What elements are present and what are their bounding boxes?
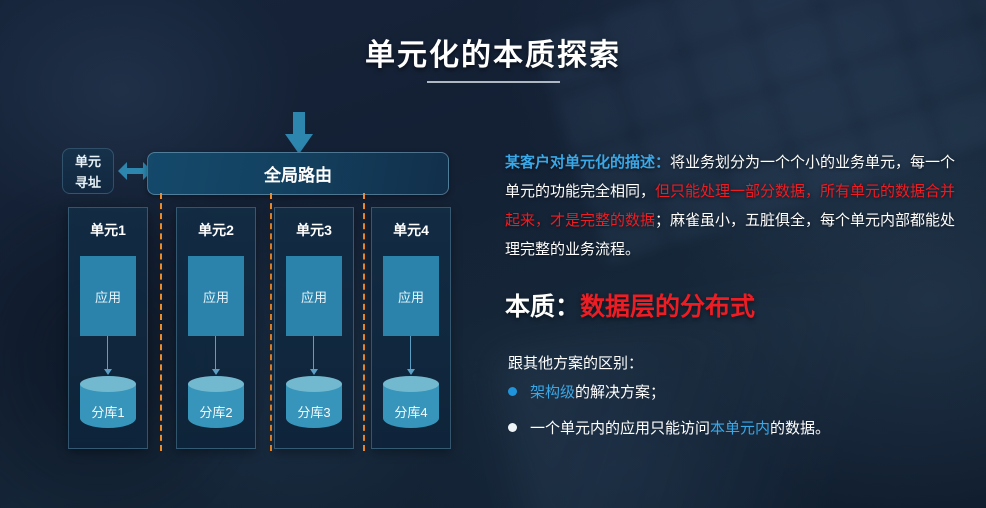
list-item: 架构级的解决方案； xyxy=(508,381,968,402)
unit-database-label: 分库1 xyxy=(80,402,136,421)
bullet-text: 的解决方案； xyxy=(575,384,665,401)
global-router-bar: 全局路由 xyxy=(147,152,449,195)
bullet-highlight: 本单元内 xyxy=(710,420,770,437)
bullet-text: 的数据。 xyxy=(770,420,830,437)
app-db-connector-arrow-icon xyxy=(104,369,112,375)
unit-app-box: 应用 xyxy=(80,256,136,336)
unit-addressing-box: 单元 寻址 xyxy=(62,148,114,194)
unit-title: 单元4 xyxy=(372,220,450,240)
bullet-highlight: 架构级 xyxy=(530,384,575,401)
bullet-dot-icon xyxy=(508,423,517,432)
unit-database-cylinder: 分库4 xyxy=(383,376,439,436)
unit-app-box: 应用 xyxy=(383,256,439,336)
app-db-connector-arrow-icon xyxy=(310,369,318,375)
list-item: 一个单元内的应用只能访问本单元内的数据。 xyxy=(508,417,968,438)
unit-database-cylinder: 分库3 xyxy=(286,376,342,436)
unit-card: 单元3 应用 分库3 xyxy=(274,207,354,449)
unit-app-box: 应用 xyxy=(188,256,244,336)
app-db-connector-arrow-icon xyxy=(212,369,220,375)
app-db-connector xyxy=(313,336,314,372)
unit-card: 单元1 应用 分库1 xyxy=(68,207,148,449)
unit-app-box: 应用 xyxy=(286,256,342,336)
bullet-prefix: 一个单元内的应用只能访问 xyxy=(530,420,710,437)
unit-database-label: 分库4 xyxy=(383,402,439,421)
unit-divider-3 xyxy=(363,193,365,451)
app-db-connector xyxy=(107,336,108,372)
essence-label: 本质： xyxy=(505,293,580,321)
unit-addressing-line2: 寻址 xyxy=(63,172,113,193)
difference-label: 跟其他方案的区别： xyxy=(508,352,643,373)
unit-divider-1 xyxy=(160,193,162,451)
unit-database-label: 分库2 xyxy=(188,402,244,421)
description-paragraph: 某客户对单元化的描述：将业务划分为一个个小的业务单元，每一个单元的功能完全相同，… xyxy=(505,148,965,264)
unit-title: 单元2 xyxy=(177,220,255,240)
bullet-dot-icon xyxy=(508,387,517,396)
unit-card: 单元2 应用 分库2 xyxy=(176,207,256,449)
unit-title: 单元3 xyxy=(275,220,353,240)
essence-heading: 本质：数据层的分布式 xyxy=(505,287,755,323)
slide-root: 单元化的本质探索 单元 寻址 全局路由 单元1 应用 xyxy=(0,0,986,508)
unit-divider-2 xyxy=(270,193,272,451)
unit-addressing-line1: 单元 xyxy=(63,151,113,172)
global-router-label: 全局路由 xyxy=(264,161,332,186)
app-db-connector-arrow-icon xyxy=(407,369,415,375)
unit-database-cylinder: 分库2 xyxy=(188,376,244,436)
description-lead: 某客户对单元化的描述： xyxy=(505,154,670,171)
essence-value: 数据层的分布式 xyxy=(580,293,755,321)
unit-database-label: 分库3 xyxy=(286,402,342,421)
explanation-column: 某客户对单元化的描述：将业务划分为一个个小的业务单元，每一个单元的功能完全相同，… xyxy=(505,0,975,508)
arrow-down-icon xyxy=(285,112,313,154)
app-db-connector xyxy=(410,336,411,372)
unit-title: 单元1 xyxy=(69,220,147,240)
app-db-connector xyxy=(215,336,216,372)
unitization-diagram: 单元 寻址 全局路由 单元1 应用 分库1 单元2 应用 xyxy=(0,0,500,508)
unit-card: 单元4 应用 分库4 xyxy=(371,207,451,449)
unit-database-cylinder: 分库1 xyxy=(80,376,136,436)
